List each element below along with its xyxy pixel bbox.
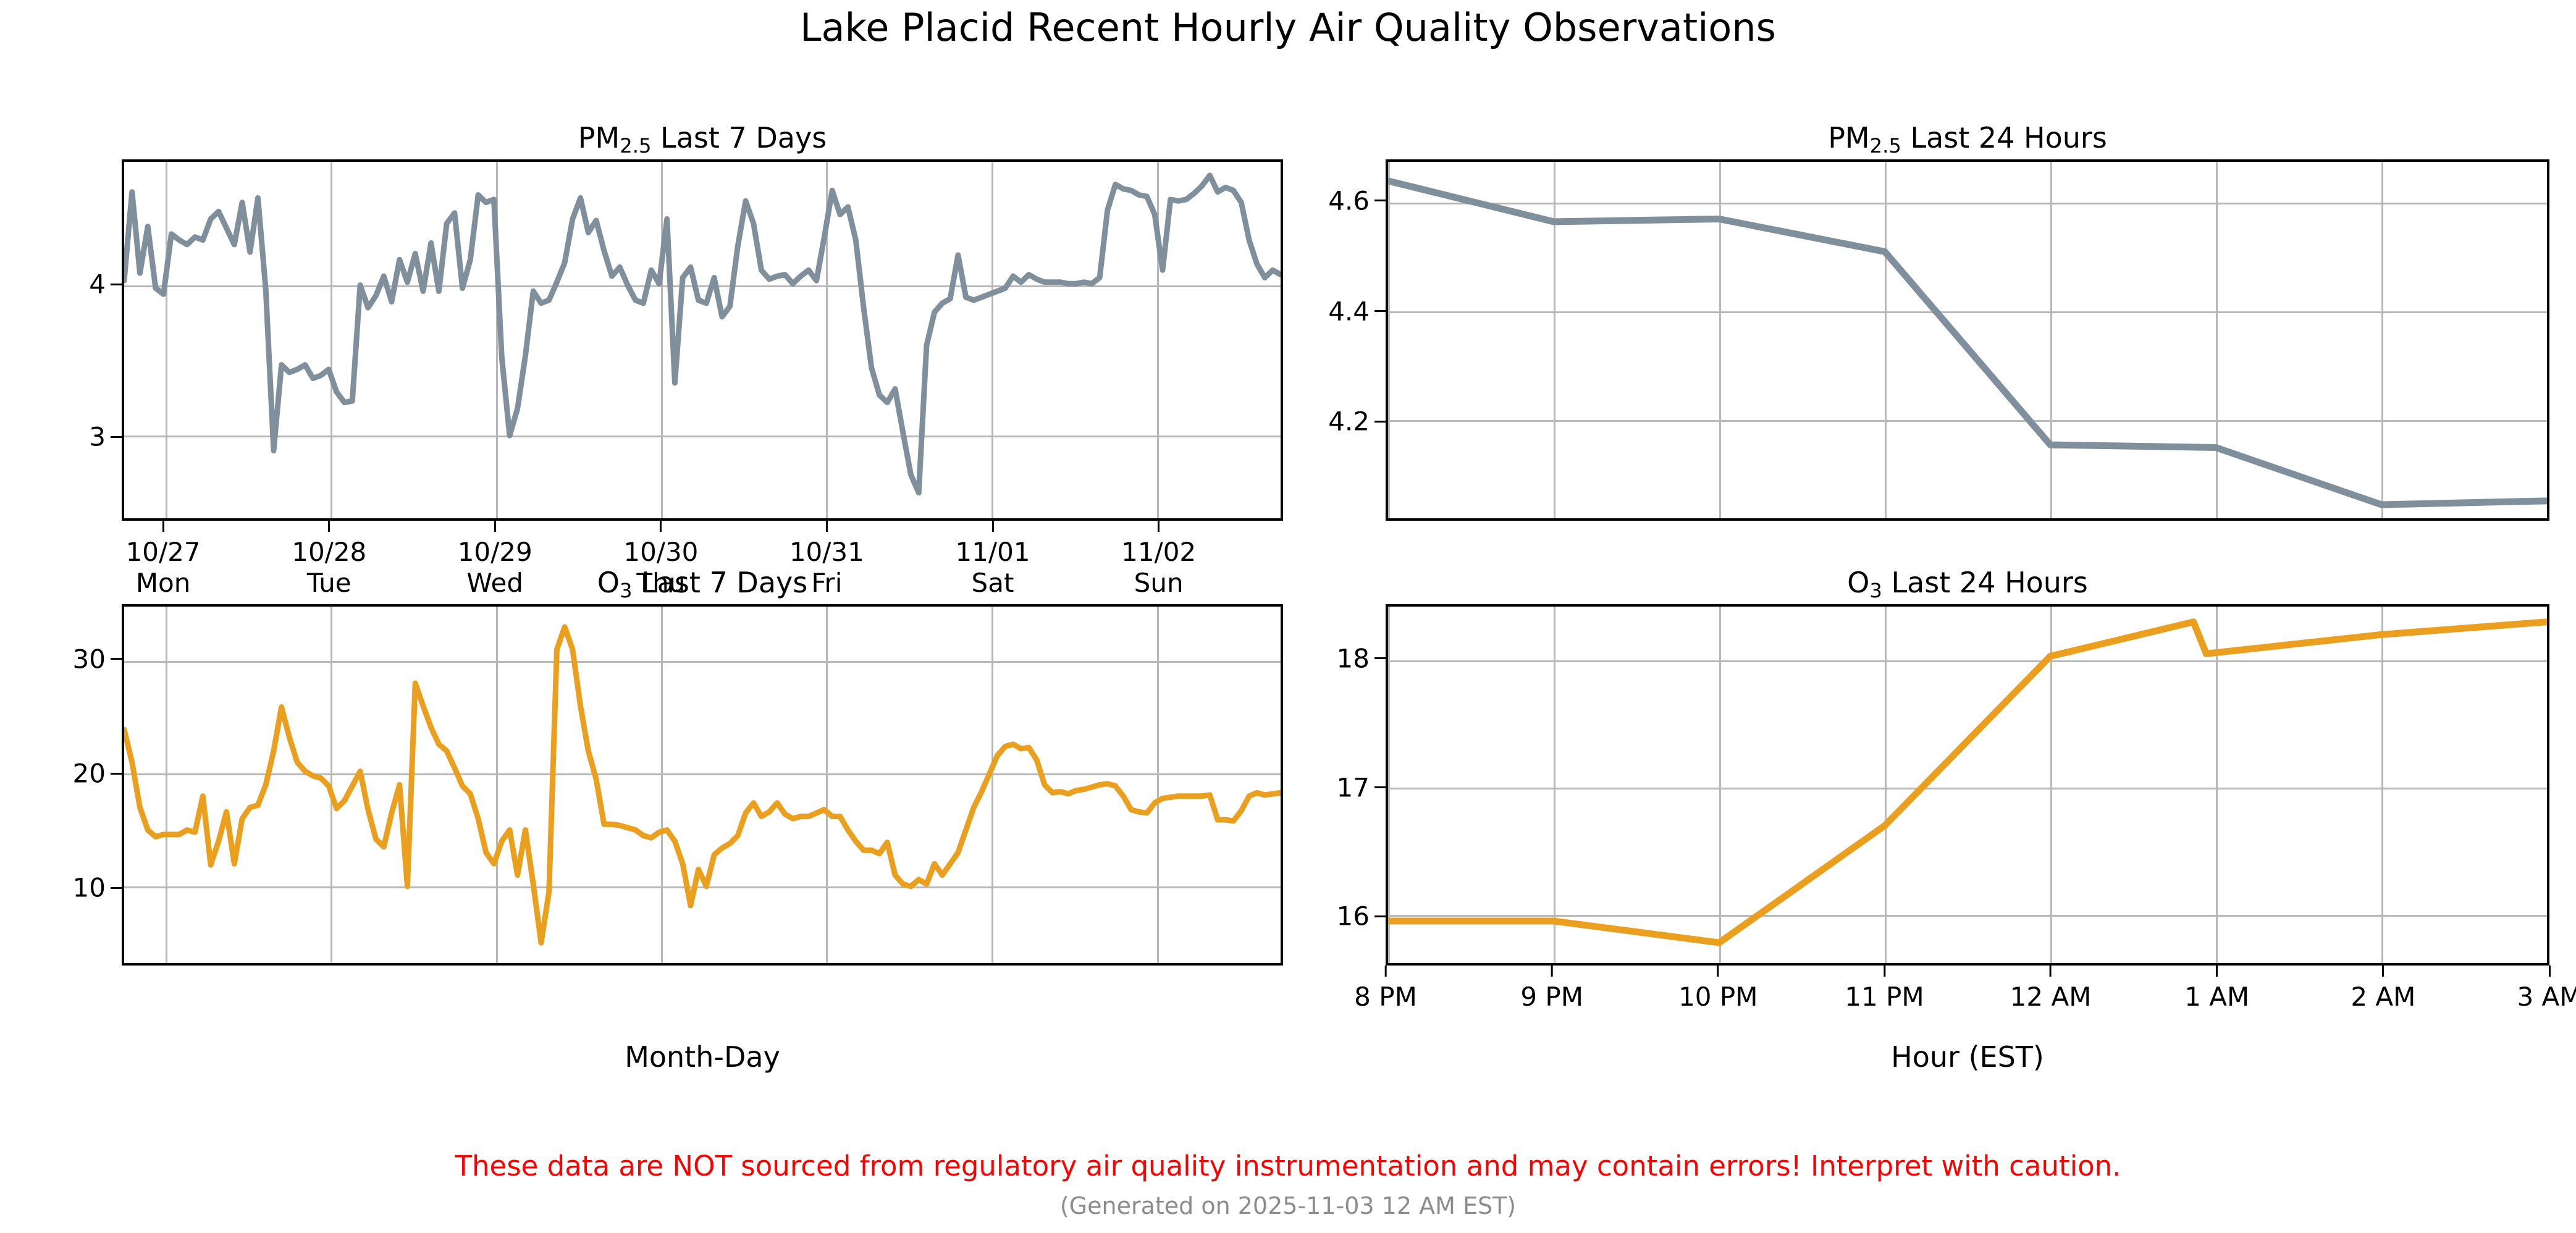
x-axis-label-hour-est: Hour (EST)	[1386, 1040, 2549, 1074]
panel-o3-last-7-days: O3 Last 7 Days O3 (ppb) 30 20 10 Month-D…	[122, 604, 1283, 966]
y-tick-label: 17	[1337, 772, 1386, 802]
panel-title-pm25-7day: PM2.5 Last 7 Days	[122, 121, 1283, 158]
y-tick-label: 20	[73, 759, 122, 789]
page-title: Lake Placid Recent Hourly Air Quality Ob…	[0, 5, 2576, 50]
x-tickmark	[1158, 521, 1160, 532]
series-line-o3-7day	[124, 607, 1281, 963]
x-tick-label: 2 AM	[2351, 966, 2415, 1012]
x-tick-label: 3 AM	[2517, 966, 2576, 1012]
x-tick-label: 10 PM	[1678, 966, 1757, 1012]
data-disclaimer-warning: These data are NOT sourced from regulato…	[0, 1150, 2576, 1182]
x-tickmark	[1551, 966, 1553, 977]
x-tickmark	[2382, 966, 2384, 977]
series-line-pm25-24h	[1388, 162, 2547, 518]
y-tick-label: 4.2	[1328, 406, 1386, 437]
panel-title-subscript: 2.5	[620, 134, 651, 158]
y-tick-label: 18	[1337, 643, 1386, 673]
x-tickmark	[2050, 966, 2052, 977]
y-tick-label: 3	[89, 422, 122, 452]
plot-area-pm25-7day	[122, 159, 1283, 521]
plot-area-o3-24h	[1386, 604, 2549, 966]
x-tickmark	[660, 521, 662, 532]
x-tick-label: 9 PM	[1520, 966, 1583, 1012]
y-tick-label: 4	[89, 269, 122, 300]
x-tick-label: 12 AM	[2010, 966, 2092, 1012]
panel-title-text-main: PM	[578, 121, 620, 154]
x-tickmark	[1384, 966, 1386, 977]
panel-pm25-last-24-hours: PM2.5 Last 24 Hours 4.6 4.4 4.2	[1386, 159, 2549, 521]
x-tickmark	[328, 521, 330, 532]
y-tick-label: 30	[73, 644, 122, 674]
plot-area-o3-7day	[122, 604, 1283, 966]
panel-o3-last-24-hours: O3 Last 24 Hours 18 17 16 8 PM 9 PM 10 P…	[1386, 604, 2549, 966]
y-tick-label: 4.4	[1328, 296, 1386, 326]
x-tickmark	[1717, 966, 1719, 977]
series-line-pm25-7day	[124, 162, 1281, 518]
x-tick-label: 8 PM	[1354, 966, 1417, 1012]
x-tickmark	[1884, 966, 1885, 977]
x-tickmark	[2216, 966, 2218, 977]
x-tickmark	[2548, 966, 2550, 977]
plot-area-pm25-24h	[1386, 159, 2549, 521]
panel-title-o3-24h: O3 Last 24 Hours	[1386, 566, 2549, 602]
x-tickmark	[162, 521, 164, 532]
x-tickmark	[991, 521, 993, 532]
y-tick-label: 10	[73, 873, 122, 903]
x-tickmark	[494, 521, 496, 532]
y-tick-label: 4.6	[1328, 185, 1386, 216]
x-tickmark	[826, 521, 828, 532]
panel-pm25-last-7-days: PM2.5 Last 7 Days PM2.5 (μg m−3) 4 3 10/…	[122, 159, 1283, 521]
panel-title-pm25-24h: PM2.5 Last 24 Hours	[1386, 121, 2549, 158]
x-tick-label: 11 PM	[1845, 966, 1924, 1012]
panel-title-text-rest: Last 7 Days	[651, 121, 827, 154]
y-tick-label: 16	[1337, 901, 1386, 932]
generated-timestamp: (Generated on 2025-11-03 12 AM EST)	[0, 1192, 2576, 1219]
panel-title-o3-7day: O3 Last 7 Days	[122, 566, 1283, 602]
x-axis-label-month-day: Month-Day	[122, 1040, 1283, 1074]
x-tick-label: 1 AM	[2184, 966, 2249, 1012]
series-line-o3-24h	[1388, 607, 2547, 963]
